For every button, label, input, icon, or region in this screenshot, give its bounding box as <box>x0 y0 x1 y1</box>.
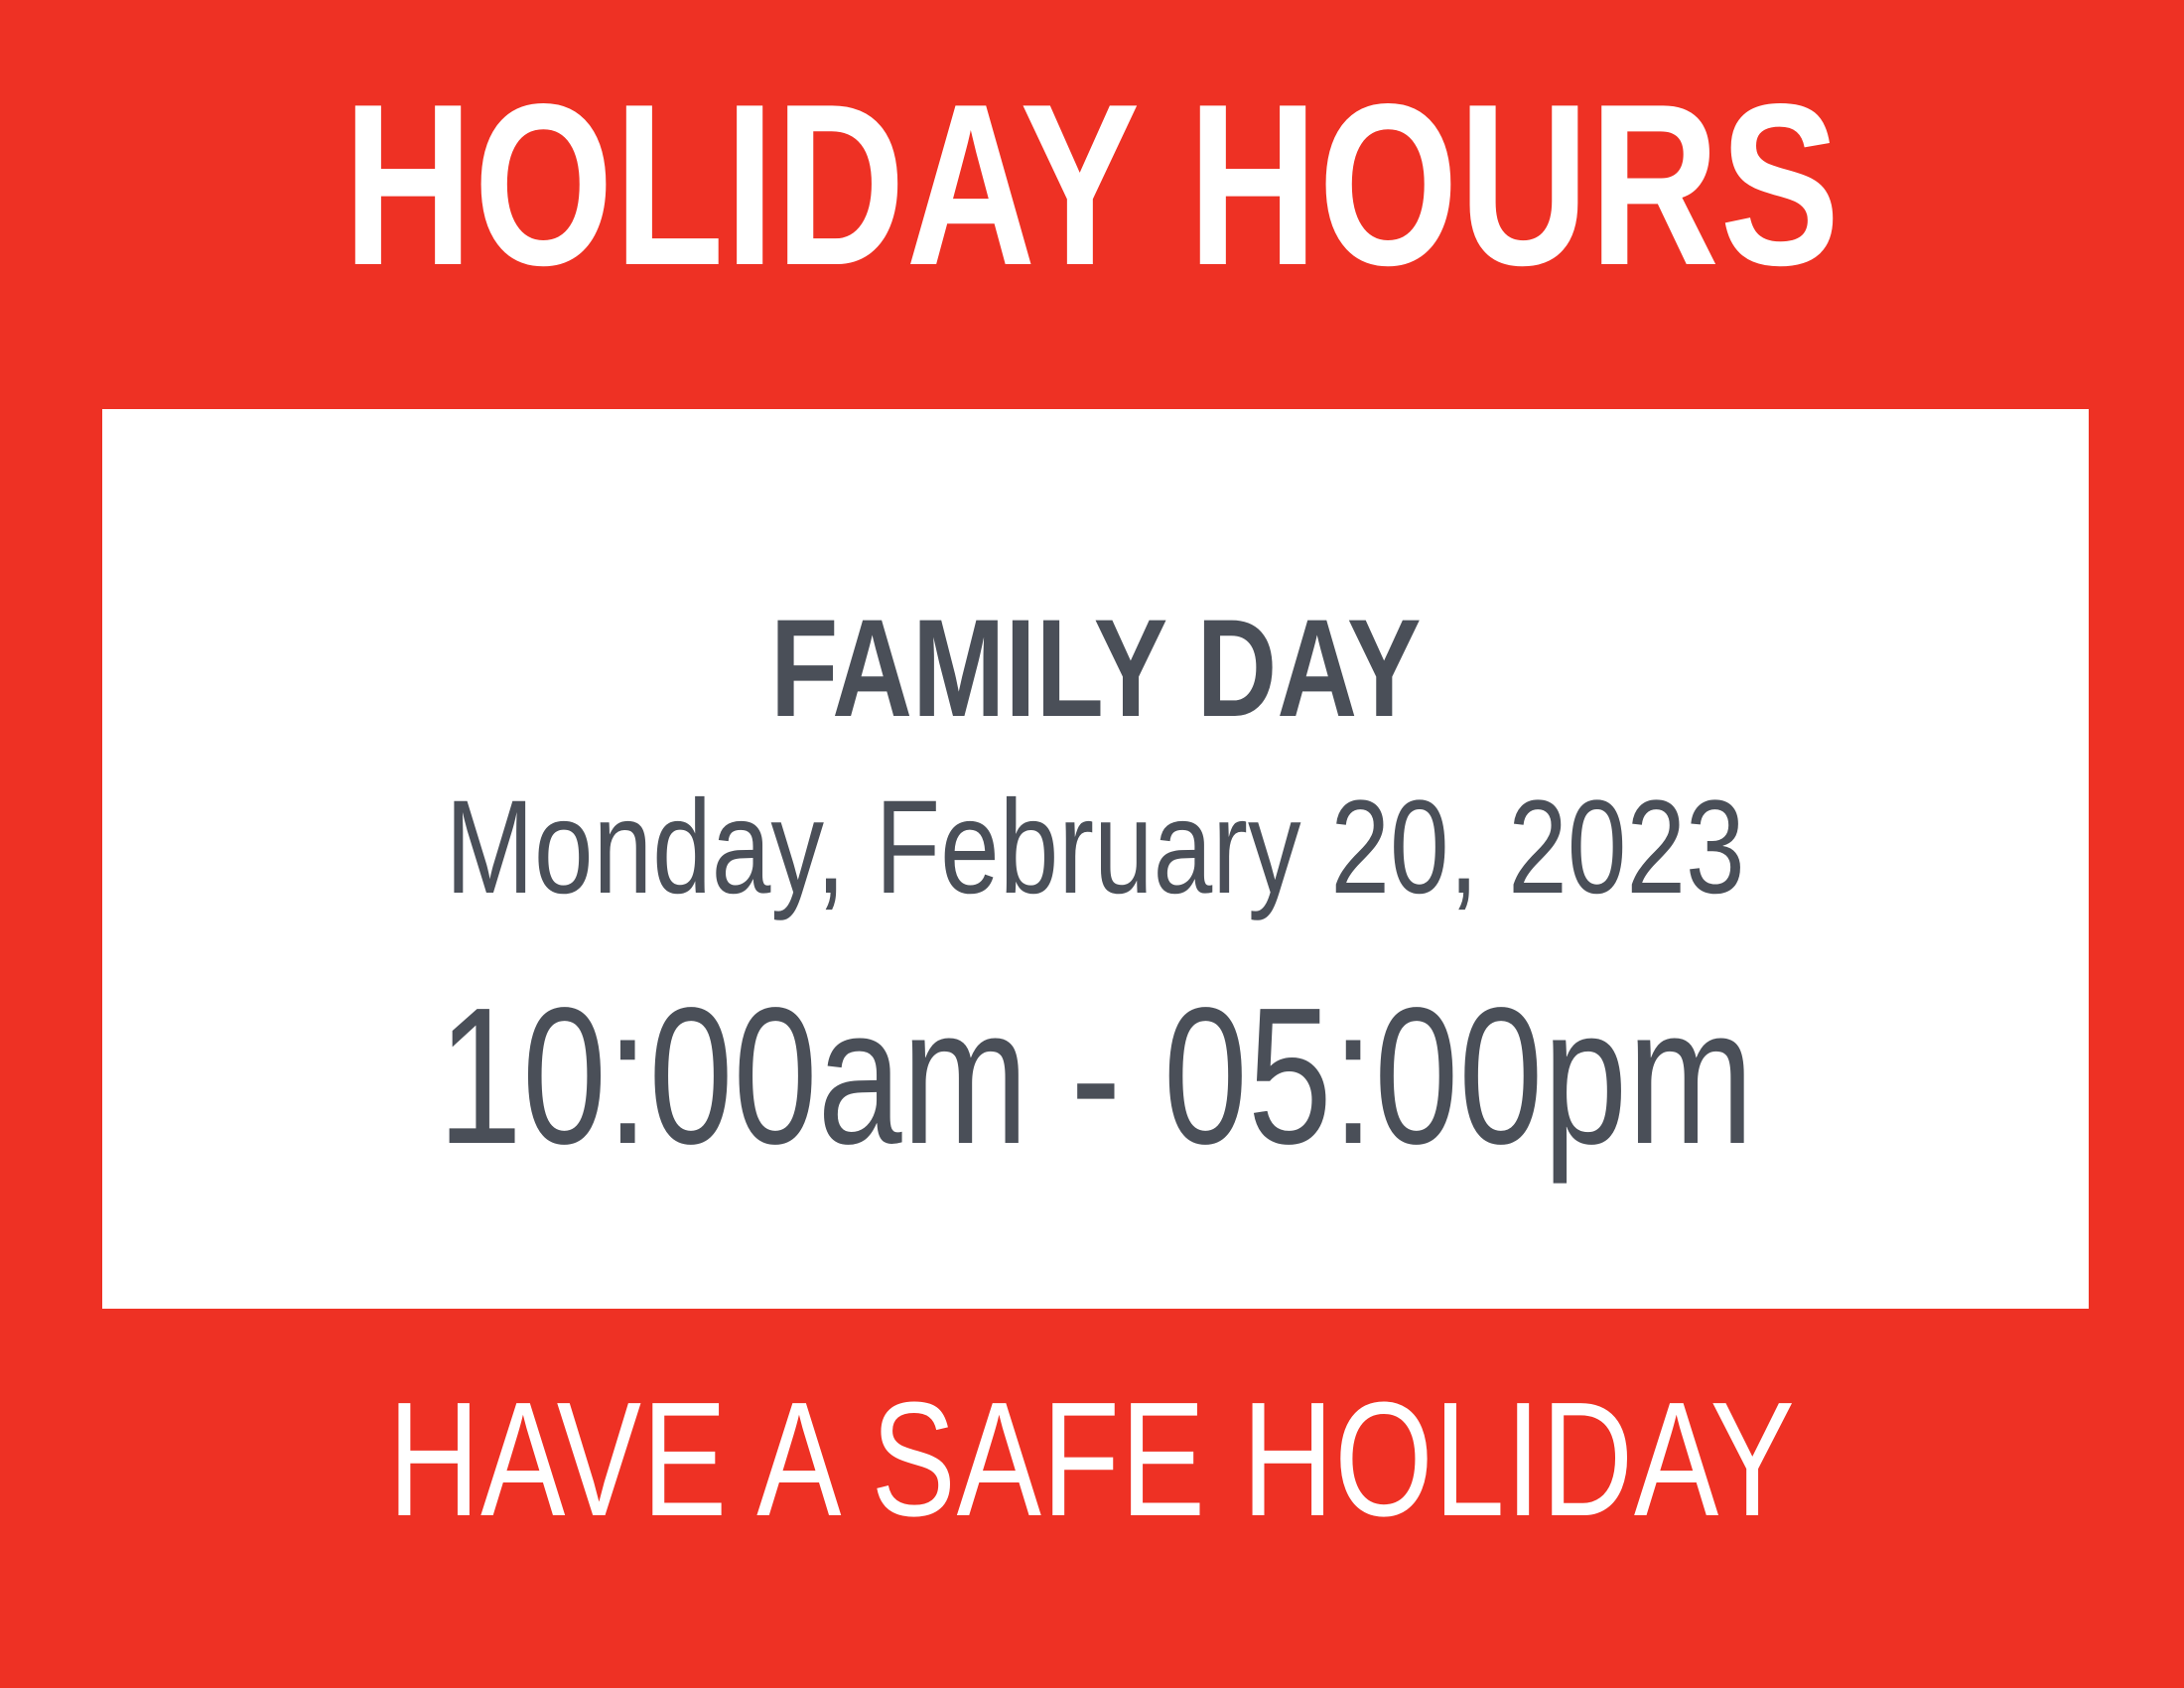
sign-footer: HAVE A SAFE HOLIDAY <box>0 1370 2184 1549</box>
notice-panel-inner: FAMILY DAY Monday, February 20, 2023 10:… <box>102 409 2089 1309</box>
hours-text: 10:00am - 05:00pm <box>438 979 1754 1174</box>
sign-headline: HOLIDAY HOURS <box>0 71 2184 300</box>
notice-panel: FAMILY DAY Monday, February 20, 2023 10:… <box>102 409 2089 1309</box>
date-line: Monday, February 20, 2023 <box>102 778 2089 917</box>
holiday-hours-sign: HOLIDAY HOURS FAMILY DAY Monday, Februar… <box>0 0 2184 1688</box>
hours-line: 10:00am - 05:00pm <box>102 977 2089 1176</box>
date-text: Monday, February 20, 2023 <box>446 781 1745 914</box>
headline-text: HOLIDAY HOURS <box>343 70 1841 301</box>
footer-text: HAVE A SAFE HOLIDAY <box>388 1378 1796 1541</box>
occasion-line: FAMILY DAY <box>102 599 2089 738</box>
occasion-text: FAMILY DAY <box>770 599 1422 738</box>
